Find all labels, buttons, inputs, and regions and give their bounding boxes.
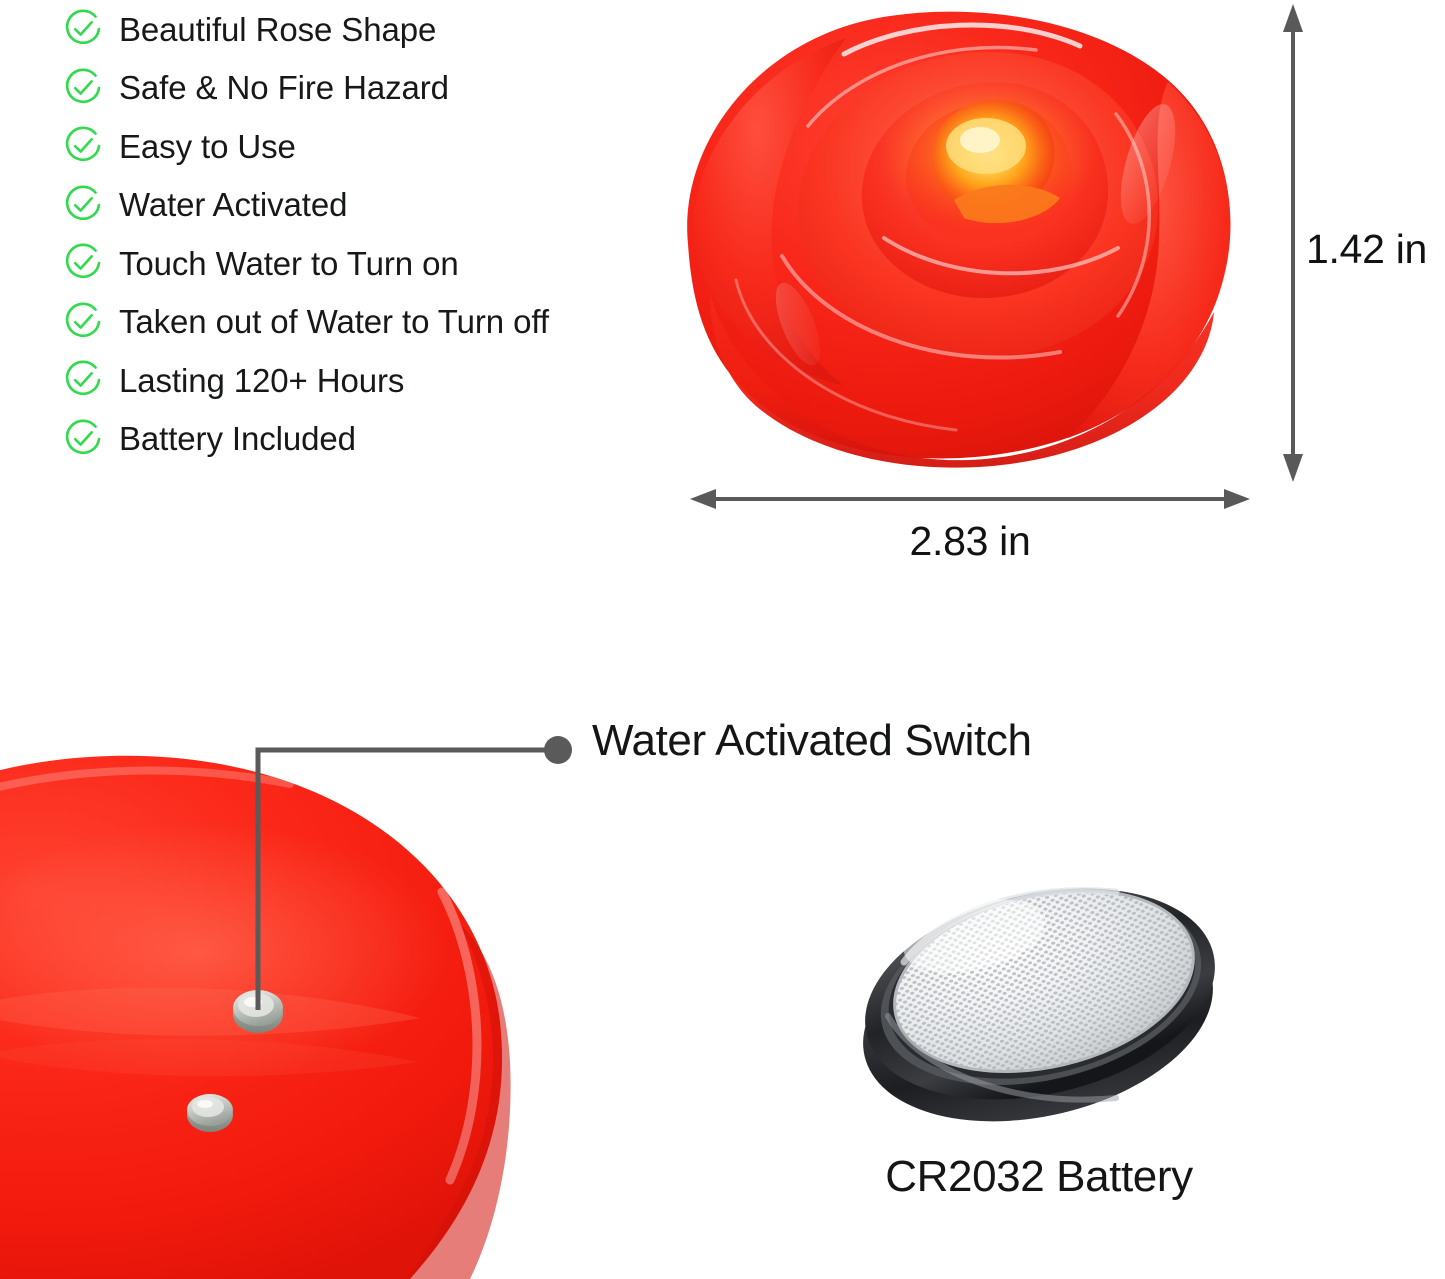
cr2032-battery-image: [848, 866, 1230, 1138]
check-circle-icon: [62, 184, 104, 226]
list-item: Battery Included: [62, 410, 702, 469]
list-item: Beautiful Rose Shape: [62, 0, 702, 59]
list-item-label: Safe & No Fire Hazard: [104, 71, 449, 104]
feature-list: Beautiful Rose Shape Safe & No Fire Haza…: [62, 0, 702, 468]
list-item: Taken out of Water to Turn off: [62, 293, 702, 352]
dimension-width-label: 2.83 in: [690, 518, 1250, 565]
list-item-label: Touch Water to Turn on: [104, 247, 459, 280]
check-circle-icon: [62, 418, 104, 460]
rose-candle-product-image: [648, 0, 1258, 494]
list-item-label: Beautiful Rose Shape: [104, 13, 436, 46]
callout-leader-line: [180, 720, 600, 1030]
list-item-label: Taken out of Water to Turn off: [104, 305, 549, 338]
check-circle-icon: [62, 359, 104, 401]
check-circle-icon: [62, 125, 104, 167]
dimension-arrow-width: [690, 482, 1250, 516]
check-circle-icon: [62, 301, 104, 343]
dimension-height-label: 1.42 in: [1306, 226, 1427, 273]
dimension-arrow-height: [1276, 4, 1310, 482]
rose-flame-white: [960, 127, 1000, 153]
check-circle-icon: [62, 67, 104, 109]
list-item-label: Easy to Use: [104, 130, 296, 163]
check-circle-icon: [62, 242, 104, 284]
list-item: Water Activated: [62, 176, 702, 235]
list-item-label: Lasting 120+ Hours: [104, 364, 404, 397]
list-item: Lasting 120+ Hours: [62, 351, 702, 410]
infographic-canvas: Beautiful Rose Shape Safe & No Fire Haza…: [0, 0, 1445, 1279]
battery-label: CR2032 Battery: [848, 1152, 1230, 1202]
leader-polyline: [258, 750, 548, 1010]
callout-dot: [544, 736, 572, 764]
list-item-label: Water Activated: [104, 188, 347, 221]
list-item-label: Battery Included: [104, 422, 356, 455]
check-circle-icon: [62, 8, 104, 50]
list-item: Safe & No Fire Hazard: [62, 59, 702, 118]
list-item: Easy to Use: [62, 117, 702, 176]
contact-pin-lower: [187, 1094, 233, 1132]
callout-label: Water Activated Switch: [592, 716, 1032, 766]
list-item: Touch Water to Turn on: [62, 234, 702, 293]
